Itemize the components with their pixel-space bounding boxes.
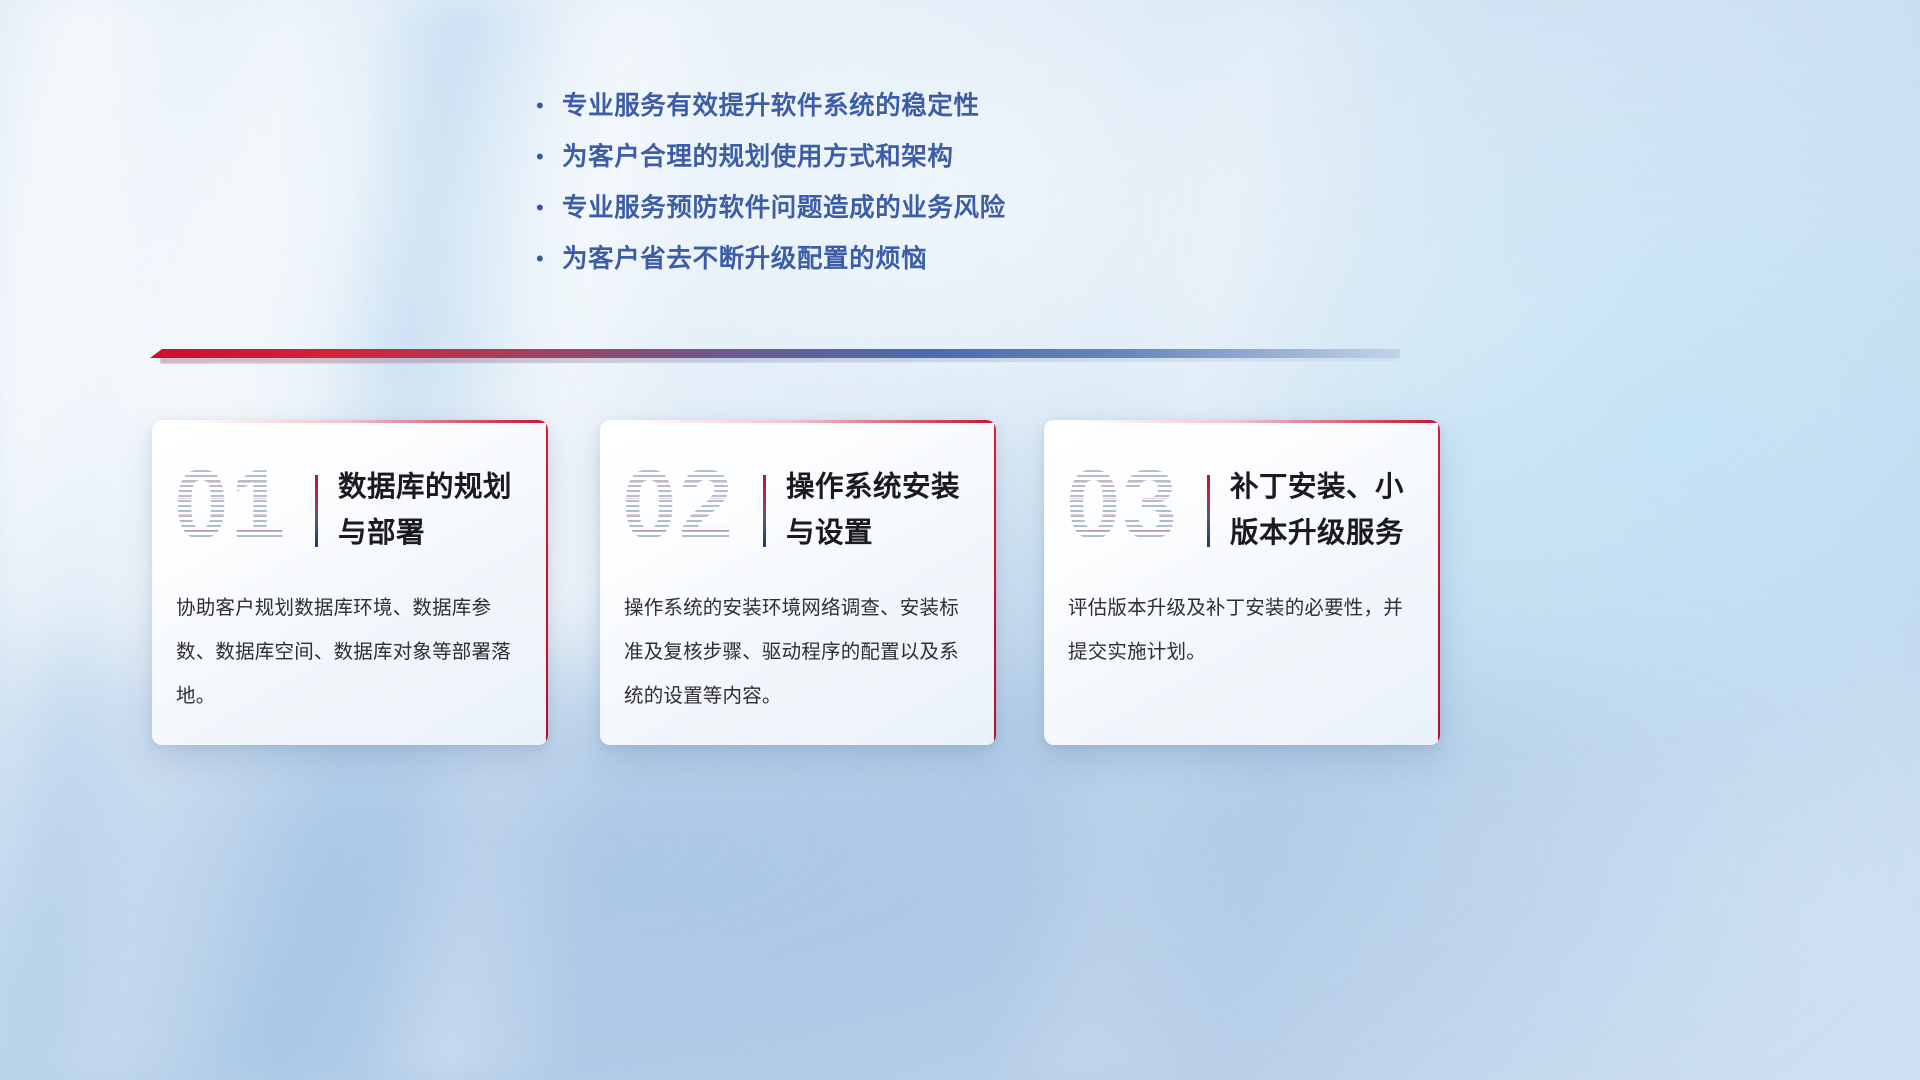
bullet-text: 为客户合理的规划使用方式和架构 [562, 139, 954, 175]
list-item: • 为客户合理的规划使用方式和架构 [536, 139, 1006, 190]
card-top-accent [1076, 420, 1440, 423]
card-title-rule [1207, 475, 1210, 547]
card-description: 协助客户规划数据库环境、数据库参数、数据库空间、数据库对象等部署落地。 [176, 586, 520, 718]
bullet-text: 专业服务预防软件问题造成的业务风险 [562, 190, 1006, 226]
card-top-accent [184, 420, 548, 423]
bullet-dot-icon: • [536, 190, 562, 226]
card-title: 操作系统安装与设置 [786, 464, 982, 556]
bullet-text: 专业服务有效提升软件系统的稳定性 [562, 88, 980, 124]
card-number-watermark-tint: 01 [174, 450, 302, 558]
divider-gradient-bar [150, 349, 1400, 358]
bullet-text: 为客户省去不断升级配置的烦恼 [562, 241, 927, 277]
bullet-dot-icon: • [536, 241, 562, 277]
list-item: • 专业服务有效提升软件系统的稳定性 [536, 88, 1006, 139]
bullet-dot-icon: • [536, 88, 562, 124]
card-title-rule [315, 475, 318, 547]
card-number-watermark-tint: 03 [1066, 450, 1194, 558]
service-card-row: 01 01 数据库的规划与部署 协助客户规划数据库环境、数据库参数、数据库空间、… [0, 420, 1920, 760]
card-header: 03 03 补丁安装、小版本升级服务 [1044, 442, 1440, 574]
service-card-02[interactable]: 02 02 操作系统安装与设置 操作系统的安装环境网络调查、安装标准及复核步骤、… [600, 420, 996, 745]
bullet-dot-icon: • [536, 139, 562, 175]
service-card-01[interactable]: 01 01 数据库的规划与部署 协助客户规划数据库环境、数据库参数、数据库空间、… [152, 420, 548, 745]
section-divider [150, 344, 1400, 366]
card-title-rule [763, 475, 766, 547]
card-title: 补丁安装、小版本升级服务 [1230, 464, 1426, 556]
card-header: 02 02 操作系统安装与设置 [600, 442, 996, 574]
card-top-accent [632, 420, 996, 423]
divider-shadow [160, 357, 1398, 364]
card-header: 01 01 数据库的规划与部署 [152, 442, 548, 574]
card-title: 数据库的规划与部署 [338, 464, 534, 556]
card-description: 操作系统的安装环境网络调查、安装标准及复核步骤、驱动程序的配置以及系统的设置等内… [624, 586, 968, 718]
list-item: • 为客户省去不断升级配置的烦恼 [536, 241, 1006, 292]
list-item: • 专业服务预防软件问题造成的业务风险 [536, 190, 1006, 241]
benefit-bullet-list: • 专业服务有效提升软件系统的稳定性 • 为客户合理的规划使用方式和架构 • 专… [536, 88, 1006, 292]
card-description: 评估版本升级及补丁安装的必要性，并提交实施计划。 [1068, 586, 1412, 674]
card-number-watermark-tint: 02 [622, 450, 750, 558]
service-card-03[interactable]: 03 03 补丁安装、小版本升级服务 评估版本升级及补丁安装的必要性，并提交实施… [1044, 420, 1440, 745]
